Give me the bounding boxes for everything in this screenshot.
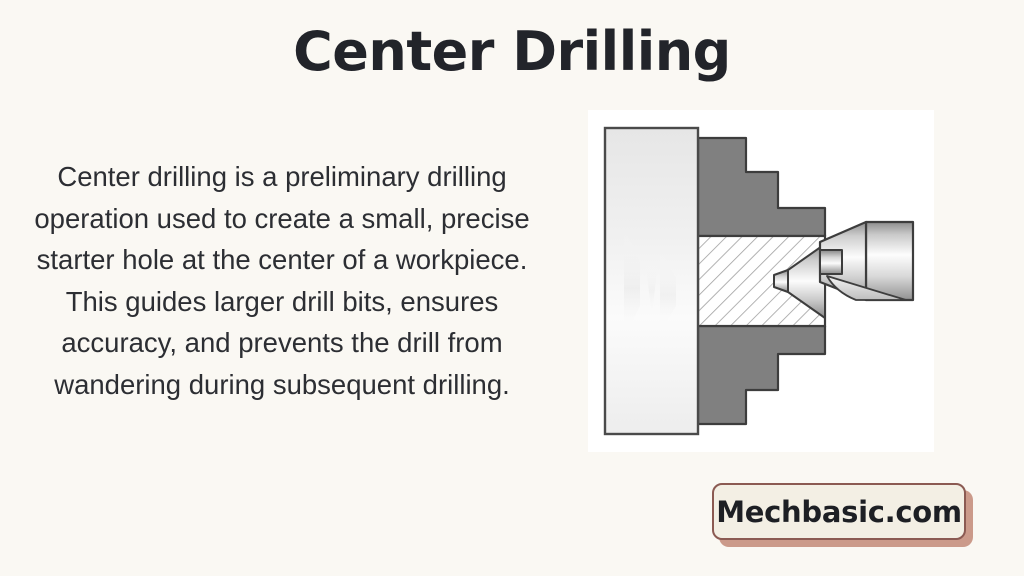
lathe-chuck (605, 128, 698, 434)
center-drilling-diagram (588, 110, 934, 452)
logo-text: Mechbasic.com (716, 495, 962, 529)
description-paragraph: Center drilling is a preliminary drillin… (34, 156, 530, 405)
diagram-svg (588, 110, 934, 452)
page-title: Center Drilling (0, 22, 1024, 81)
site-logo-badge[interactable]: Mechbasic.com (712, 483, 966, 540)
logo-badge-face: Mechbasic.com (712, 483, 966, 540)
slide-canvas: Center Drilling Center drilling is a pre… (0, 0, 1024, 576)
